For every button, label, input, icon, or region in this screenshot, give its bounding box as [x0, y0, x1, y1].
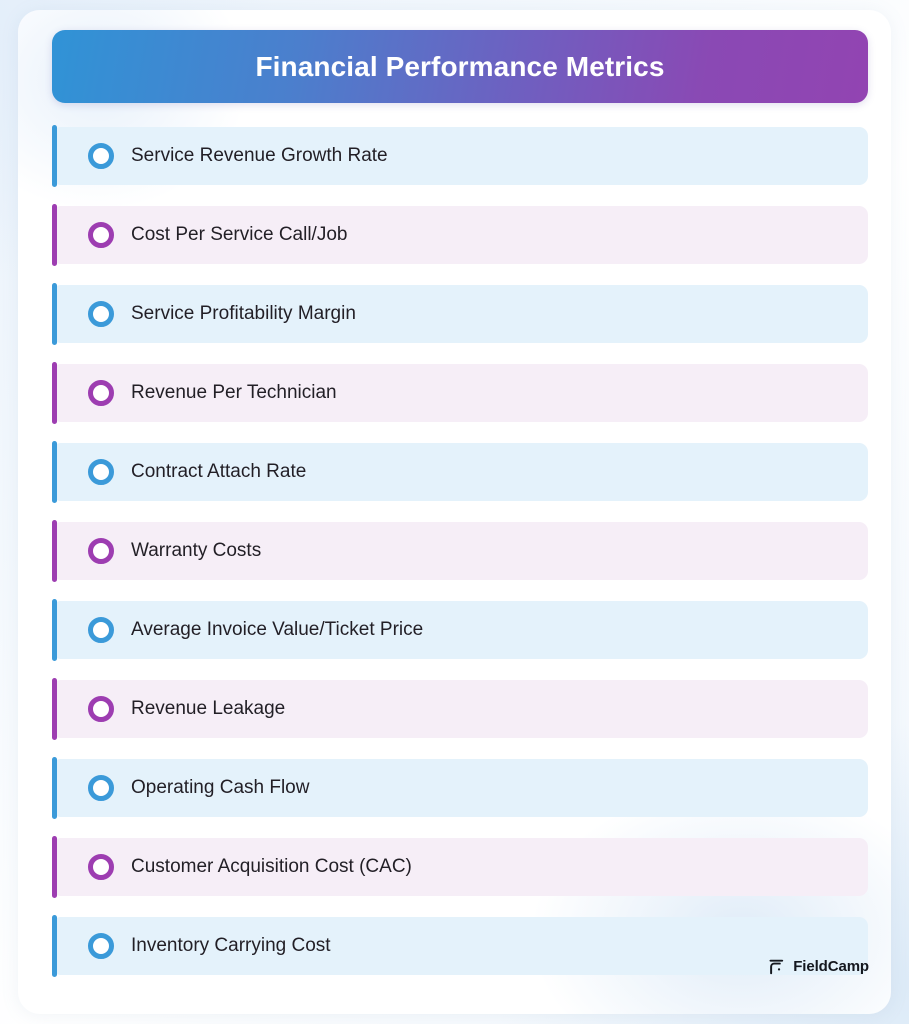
- metric-row[interactable]: Customer Acquisition Cost (CAC): [52, 838, 868, 896]
- metric-label: Revenue Leakage: [131, 699, 285, 720]
- page-background: Financial Performance Metrics Service Re…: [0, 0, 909, 1024]
- ring-icon: [88, 617, 114, 643]
- row-accent-bar: [52, 915, 57, 977]
- row-accent-bar: [52, 520, 57, 582]
- ring-icon: [88, 459, 114, 485]
- row-accent-bar: [52, 599, 57, 661]
- metric-row[interactable]: Operating Cash Flow: [52, 759, 868, 817]
- metric-label: Cost Per Service Call/Job: [131, 225, 347, 246]
- ring-icon: [88, 143, 114, 169]
- metric-row[interactable]: Inventory Carrying Cost: [52, 917, 868, 975]
- metric-label: Inventory Carrying Cost: [131, 936, 331, 957]
- fieldcamp-f-mark-icon: [767, 957, 786, 976]
- header-banner: Financial Performance Metrics: [52, 30, 868, 103]
- ring-icon: [88, 696, 114, 722]
- metrics-list: Service Revenue Growth RateCost Per Serv…: [52, 127, 868, 975]
- metric-row[interactable]: Service Profitability Margin: [52, 285, 868, 343]
- ring-icon: [88, 775, 114, 801]
- metric-label: Revenue Per Technician: [131, 383, 337, 404]
- content-card: Financial Performance Metrics Service Re…: [18, 10, 891, 1014]
- brand-logo: FieldCamp: [767, 957, 869, 976]
- metric-row[interactable]: Cost Per Service Call/Job: [52, 206, 868, 264]
- metric-row[interactable]: Revenue Per Technician: [52, 364, 868, 422]
- ring-icon: [88, 301, 114, 327]
- metric-label: Warranty Costs: [131, 541, 261, 562]
- metric-row[interactable]: Contract Attach Rate: [52, 443, 868, 501]
- row-accent-bar: [52, 678, 57, 740]
- row-accent-bar: [52, 836, 57, 898]
- metric-row[interactable]: Service Revenue Growth Rate: [52, 127, 868, 185]
- metric-label: Service Revenue Growth Rate: [131, 146, 388, 167]
- row-accent-bar: [52, 757, 57, 819]
- metric-label: Contract Attach Rate: [131, 462, 306, 483]
- metric-label: Operating Cash Flow: [131, 778, 309, 799]
- row-accent-bar: [52, 362, 57, 424]
- metric-label: Average Invoice Value/Ticket Price: [131, 620, 423, 641]
- brand-name: FieldCamp: [793, 959, 869, 974]
- metric-label: Customer Acquisition Cost (CAC): [131, 857, 412, 878]
- metric-label: Service Profitability Margin: [131, 304, 356, 325]
- row-accent-bar: [52, 204, 57, 266]
- metric-row[interactable]: Revenue Leakage: [52, 680, 868, 738]
- ring-icon: [88, 854, 114, 880]
- row-accent-bar: [52, 125, 57, 187]
- ring-icon: [88, 538, 114, 564]
- row-accent-bar: [52, 441, 57, 503]
- ring-icon: [88, 380, 114, 406]
- page-title: Financial Performance Metrics: [255, 53, 664, 81]
- ring-icon: [88, 222, 114, 248]
- ring-icon: [88, 933, 114, 959]
- metric-row[interactable]: Warranty Costs: [52, 522, 868, 580]
- row-accent-bar: [52, 283, 57, 345]
- metric-row[interactable]: Average Invoice Value/Ticket Price: [52, 601, 868, 659]
